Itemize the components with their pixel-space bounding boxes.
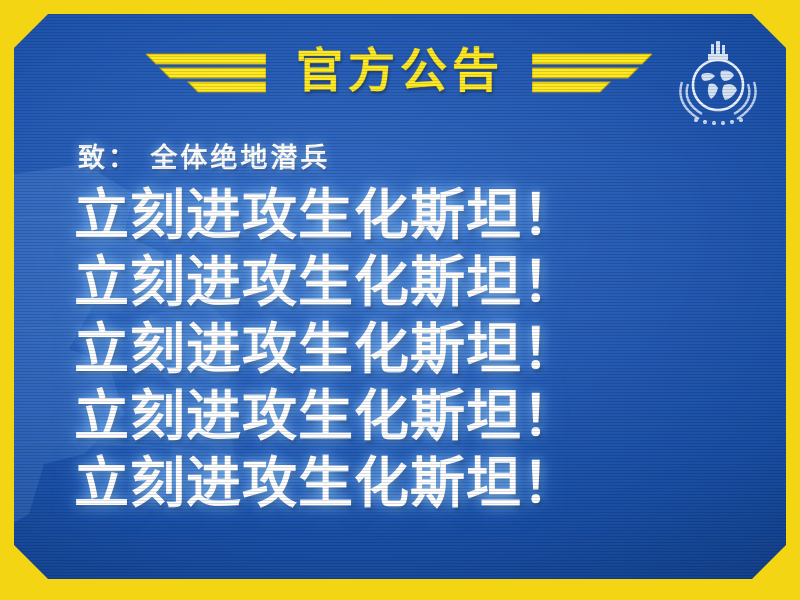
message-line: 立刻进攻生化斯坦！ xyxy=(74,450,756,517)
announcement-panel: 官方公告 xyxy=(14,14,786,579)
message-line: 立刻进攻生化斯坦！ xyxy=(74,182,756,249)
poster-header: 官方公告 xyxy=(14,38,786,108)
message-line: 立刻进攻生化斯坦！ xyxy=(74,249,756,316)
chevron-stripes-right-icon xyxy=(532,52,652,96)
message-line: 立刻进攻生化斯坦！ xyxy=(74,383,756,450)
official-announcement-poster: 官方公告 xyxy=(0,0,800,600)
message-block: 立刻进攻生化斯坦！ 立刻进攻生化斯坦！ 立刻进攻生化斯坦！ 立刻进攻生化斯坦！ … xyxy=(74,182,756,517)
salutation-line: 致： 全体绝地潜兵 xyxy=(78,136,330,175)
super-earth-globe-emblem-icon xyxy=(672,36,764,128)
page-title: 官方公告 xyxy=(14,42,786,102)
message-line: 立刻进攻生化斯坦！ xyxy=(74,316,756,383)
